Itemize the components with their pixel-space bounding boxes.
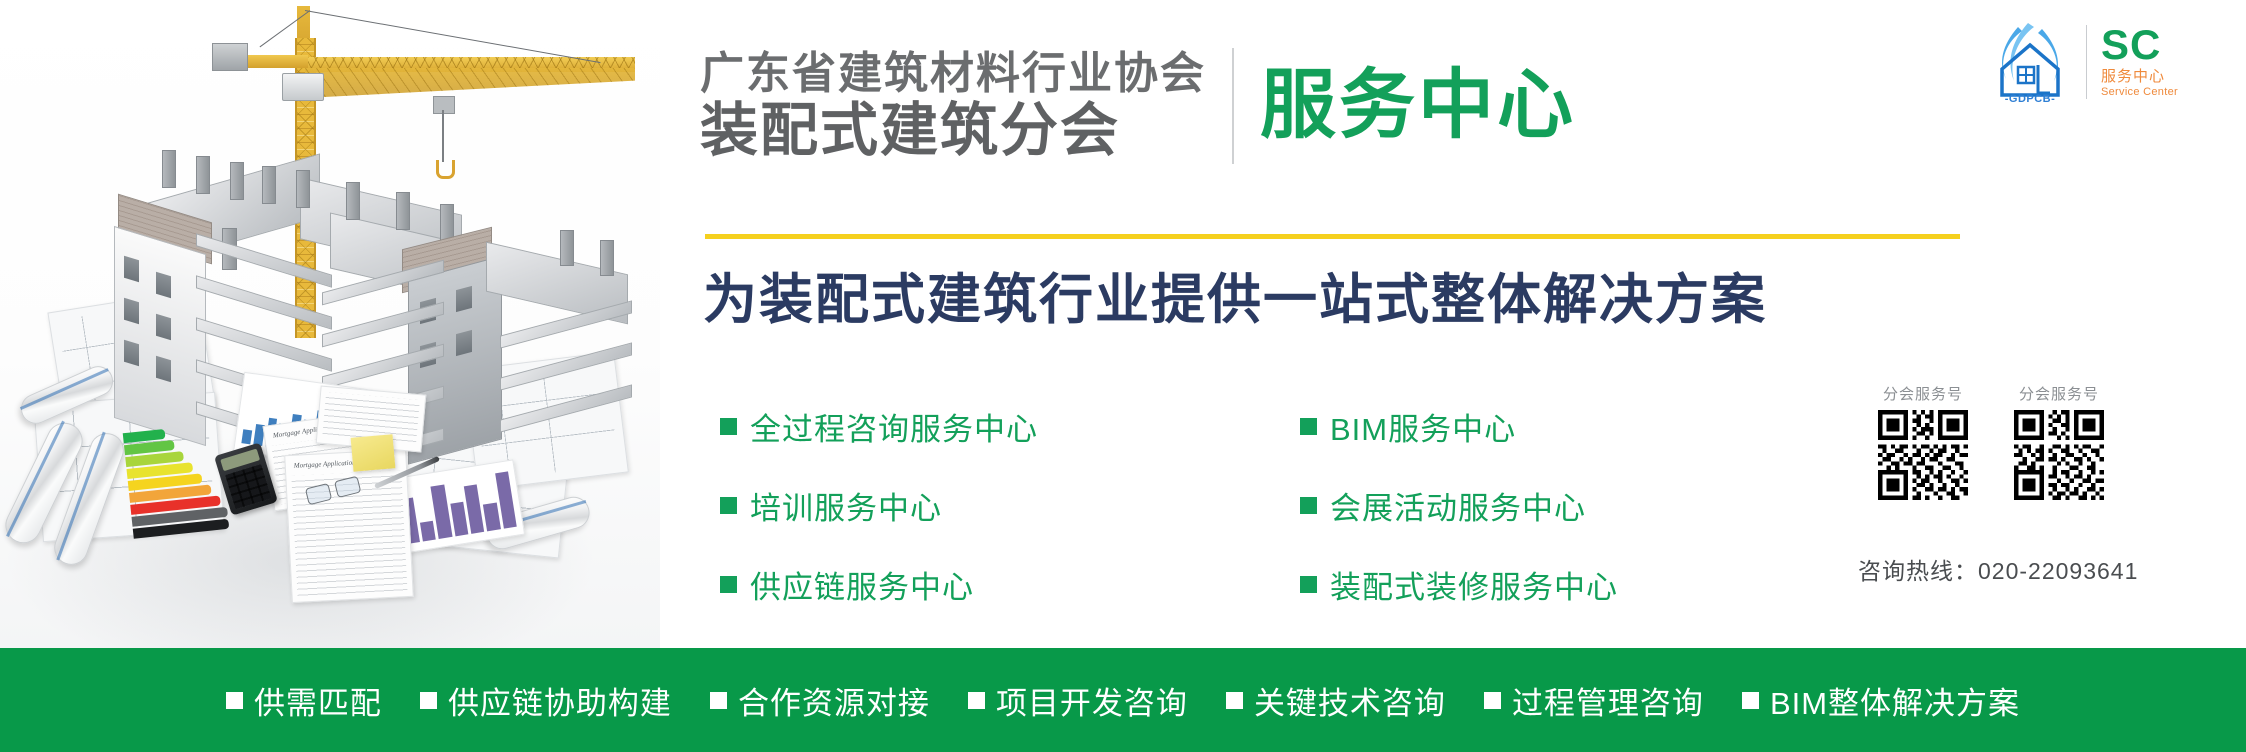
qr-code-block[interactable]: 分会服务号	[1878, 383, 1968, 500]
header-title-block: 广东省建筑材料行业协会 装配式建筑分会 服务中心	[700, 48, 1576, 164]
brand-logo[interactable]: -GDPCB- SC 服务中心 Service Center	[1988, 14, 2236, 110]
footer-item[interactable]: 关键技术咨询	[1226, 678, 1446, 723]
footer-item[interactable]: 项目开发咨询	[968, 678, 1188, 723]
service-item-label: 供应链服务中心	[750, 562, 974, 607]
footer-item-label: 过程管理咨询	[1512, 678, 1704, 723]
footer-item-label: 合作资源对接	[738, 678, 930, 723]
square-bullet-icon	[1300, 497, 1317, 514]
square-bullet-icon	[1484, 692, 1501, 709]
logo-divider	[2086, 25, 2087, 99]
footer-item-label: 项目开发咨询	[996, 678, 1188, 723]
logo-sc-initials: SC	[2101, 26, 2161, 65]
logo-abbreviation: -GDPCB-	[1988, 93, 2072, 105]
square-bullet-icon	[1742, 692, 1759, 709]
footer-item-label: 关键技术咨询	[1254, 678, 1446, 723]
energy-rating-chart	[123, 423, 230, 538]
qr-caption: 分会服务号	[1883, 383, 1963, 404]
service-item[interactable]: 会展活动服务中心	[1300, 483, 1820, 528]
square-bullet-icon	[720, 497, 737, 514]
footer-item[interactable]: BIM整体解决方案	[1742, 678, 2020, 723]
footer-item-label: 供应链协助构建	[448, 678, 672, 723]
qr-code-icon[interactable]	[1878, 410, 1968, 500]
logo-sc-english: Service Center	[2101, 86, 2178, 98]
square-bullet-icon	[1300, 576, 1317, 593]
qr-code-block[interactable]: 分会服务号	[2014, 383, 2104, 500]
square-bullet-icon	[420, 692, 437, 709]
sticky-note	[351, 434, 396, 472]
square-bullet-icon	[710, 692, 727, 709]
branch-name: 装配式建筑分会	[700, 102, 1206, 160]
document-title: Mortgage Application	[294, 459, 356, 470]
footer-bar: 供需匹配 供应链协助构建 合作资源对接 项目开发咨询 关键技术咨询 过程管理咨询…	[0, 648, 2246, 752]
title-divider	[1232, 48, 1234, 164]
footer-item[interactable]: 供应链协助构建	[420, 678, 672, 723]
service-list-right: BIM服务中心 会展活动服务中心 装配式装修服务中心	[1300, 404, 1820, 641]
qr-code-group: 分会服务号	[1878, 383, 2104, 500]
gold-divider-rule	[705, 234, 1960, 239]
gdpcb-house-flame-logo-icon: -GDPCB-	[1988, 19, 2072, 105]
service-item[interactable]: 装配式装修服务中心	[1300, 562, 1820, 607]
square-bullet-icon	[1226, 692, 1243, 709]
service-item-label: 培训服务中心	[750, 483, 942, 528]
service-item[interactable]: BIM服务中心	[1300, 404, 1820, 449]
qr-code-icon[interactable]	[2014, 410, 2104, 500]
qr-caption: 分会服务号	[2019, 383, 2099, 404]
banner-root: Mortgage Application Mortgage Applicatio…	[0, 0, 2246, 752]
service-item-label: 装配式装修服务中心	[1330, 562, 1618, 607]
square-bullet-icon	[1300, 418, 1317, 435]
footer-item[interactable]: 供需匹配	[226, 678, 382, 723]
square-bullet-icon	[720, 576, 737, 593]
square-bullet-icon	[968, 692, 985, 709]
mortgage-application-form: Mortgage Application	[284, 449, 414, 603]
hotline-text: 咨询热线：020-22093641	[1858, 552, 2138, 586]
page-subtitle: 为装配式建筑行业提供一站式整体解决方案	[703, 255, 1767, 334]
service-item-label: 会展活动服务中心	[1330, 483, 1586, 528]
footer-item-label: 供需匹配	[254, 678, 382, 723]
footer-item[interactable]: 合作资源对接	[710, 678, 930, 723]
service-item-label: BIM服务中心	[1330, 404, 1516, 449]
footer-item[interactable]: 过程管理咨询	[1484, 678, 1704, 723]
square-bullet-icon	[226, 692, 243, 709]
footer-item-label: BIM整体解决方案	[1770, 678, 2020, 723]
construction-photo: Mortgage Application Mortgage Applicatio…	[0, 0, 660, 648]
service-center-title: 服务中心	[1260, 68, 1576, 144]
logo-sc-chinese: 服务中心	[2101, 65, 2165, 86]
square-bullet-icon	[720, 418, 737, 435]
service-item-label: 全过程咨询服务中心	[750, 404, 1038, 449]
association-name: 广东省建筑材料行业协会	[700, 52, 1206, 96]
